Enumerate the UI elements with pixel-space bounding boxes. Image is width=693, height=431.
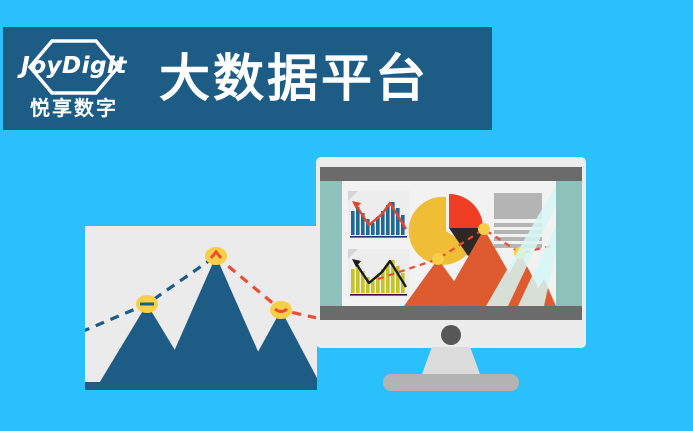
monitor-camera-icon xyxy=(441,325,461,345)
mountain-baseline xyxy=(85,382,317,390)
monitor-stand-base xyxy=(383,374,519,391)
poster-canvas: JoyDigit 悦享数字 大数据平台 xyxy=(0,0,693,431)
desktop-monitor xyxy=(316,157,586,389)
olive-bar-chart-card xyxy=(348,249,410,297)
page-title: 大数据平台 xyxy=(159,53,429,104)
screen-right-sidebar xyxy=(556,181,582,306)
logo-subtitle: 悦享数字 xyxy=(30,99,118,119)
data-marker xyxy=(432,253,444,265)
left-mountain-svg xyxy=(85,226,317,390)
hexagon-icon: JoyDigit xyxy=(22,39,126,95)
left-chart-panel xyxy=(85,226,317,390)
monitor-stand-neck xyxy=(421,347,481,377)
monitor-screen xyxy=(320,181,582,306)
dashboard-area xyxy=(342,181,556,306)
dashboard-svg xyxy=(342,181,556,306)
logo-wordmark: JoyDigit xyxy=(21,55,127,78)
brand-logo: JoyDigit 悦享数字 xyxy=(15,36,133,122)
monitor-top-bezel xyxy=(320,167,582,181)
monitor-bottom-bezel xyxy=(320,306,582,320)
screen-left-sidebar xyxy=(320,181,342,306)
data-marker xyxy=(478,223,490,235)
header-banner: JoyDigit 悦享数字 大数据平台 xyxy=(3,27,492,130)
blue-bar-chart-card xyxy=(348,191,410,239)
